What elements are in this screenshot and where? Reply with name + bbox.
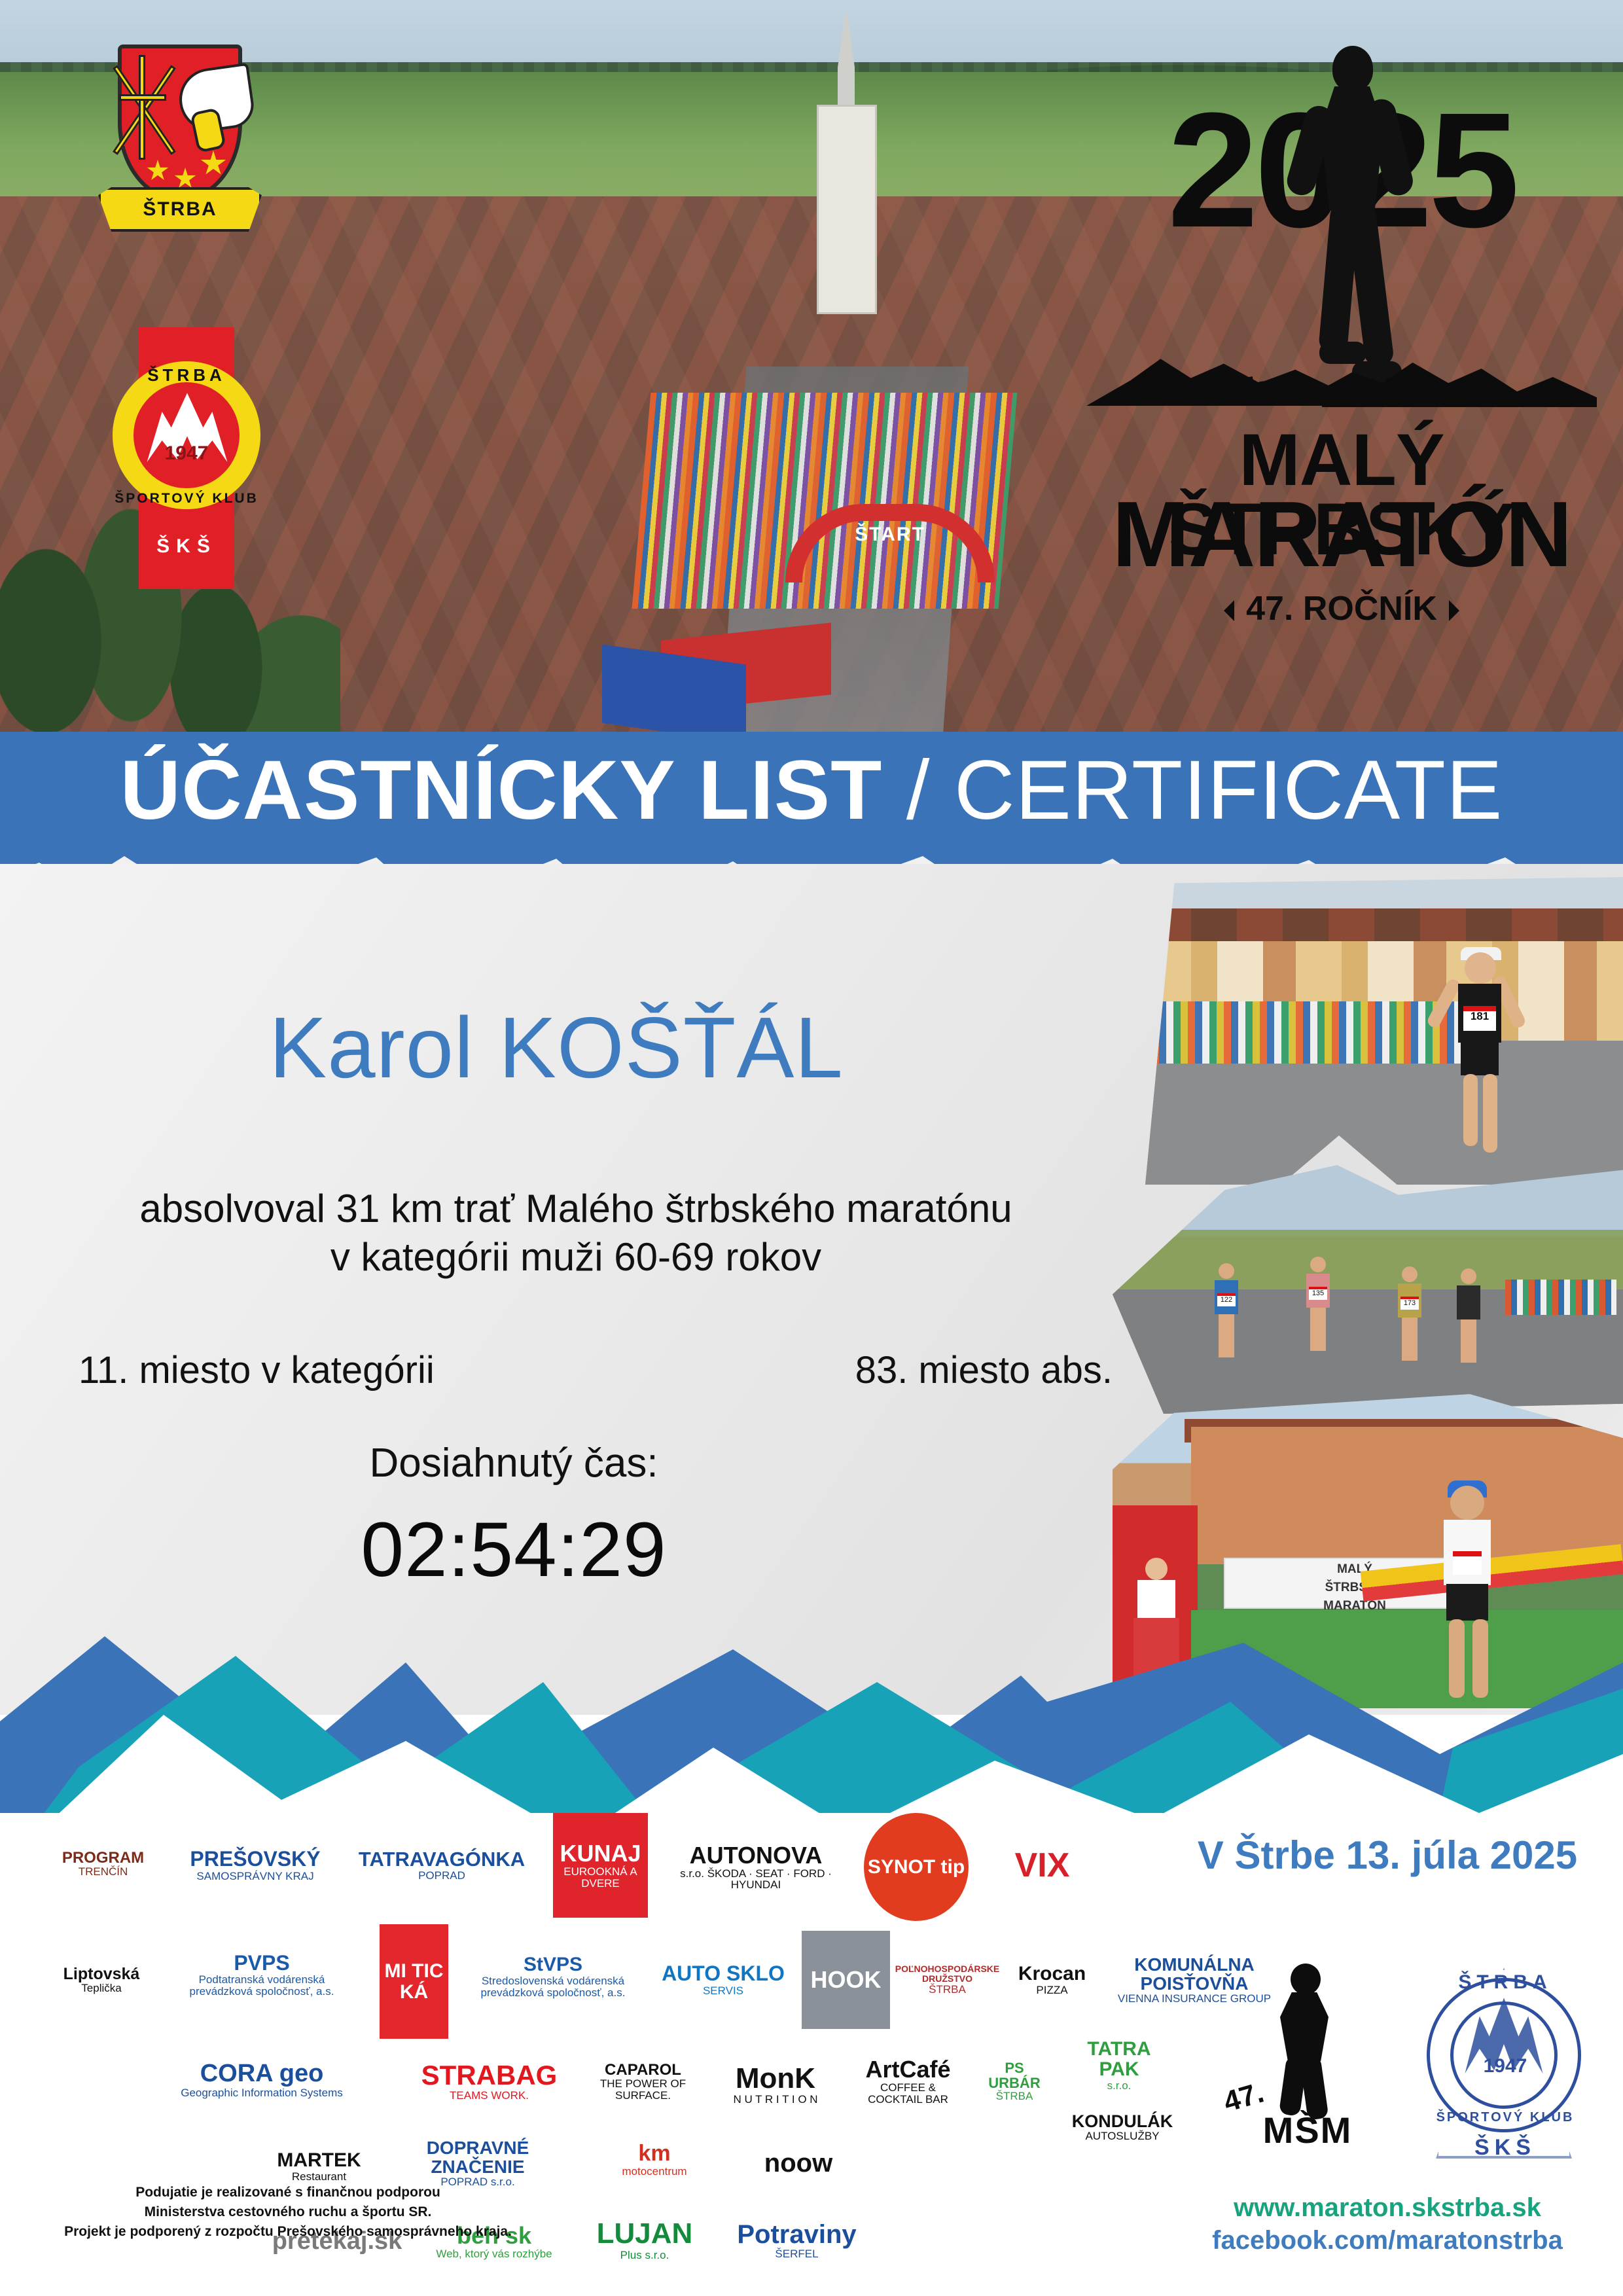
sponsor-name: VIX bbox=[1015, 1848, 1070, 1884]
crosier-staff bbox=[139, 55, 145, 160]
sponsor-logo-grid: PROGRAMTRENČÍNPREŠOVSKÝSAMOSPRÁVNY KRAJT… bbox=[46, 1806, 1126, 2199]
runner-torso bbox=[1280, 1992, 1329, 2061]
sponsor-name: PVPS bbox=[169, 1952, 354, 1975]
sponsor-logo-autosklo-servis: AUTO SKLOSERVIS bbox=[658, 1934, 789, 2026]
sponsor-name: DOPRAVNÉ ZNAČENIE bbox=[395, 2138, 560, 2177]
sponsor-name: PROGRAM bbox=[62, 1850, 144, 1866]
runner-head bbox=[1332, 46, 1373, 92]
coat-of-arms-ribbon-label: ŠTRBA bbox=[101, 190, 259, 229]
photo2-runner: 135 bbox=[1302, 1257, 1332, 1355]
sponsor-name: AUTONOVA bbox=[667, 1843, 845, 1868]
sponsor-logo-strabag: STRABAGTEAMS WORK. bbox=[412, 2039, 566, 2124]
runner-legs bbox=[1219, 1314, 1234, 1357]
msm-abbrev: MŠM bbox=[1242, 2109, 1373, 2151]
sponsor-tagline: Plus s.r.o. bbox=[597, 2250, 693, 2261]
description-line-2: v kategórii muži 60-69 rokov bbox=[0, 1233, 1152, 1282]
sponsor-tagline: s.r.o. ŠKODA · SEAT · FORD · HYUNDAI bbox=[667, 1868, 845, 1892]
sponsor-logo-tatrapak: TATRA PAKs.r.o. bbox=[1067, 2036, 1171, 2094]
finish-time-label: Dosiahnutý čas: bbox=[0, 1440, 1027, 1486]
runner-legs bbox=[1461, 1319, 1476, 1363]
sponsor-name: PREŠOVSKÝ bbox=[190, 1848, 320, 1871]
runner-head bbox=[1465, 952, 1496, 984]
sponsor-name: STRABAG bbox=[421, 2061, 558, 2090]
runner-head bbox=[1219, 1263, 1234, 1279]
sponsor-name: HOOK bbox=[811, 1967, 882, 1992]
sponsor-logo-stvps: StVPSStredoslovenská vodárenská prevádzk… bbox=[465, 1928, 641, 2026]
runner-legs bbox=[1310, 1308, 1326, 1351]
sponsor-logo-autonova: AUTONOVAs.r.o. ŠKODA · SEAT · FORD · HYU… bbox=[664, 1813, 847, 1921]
girl-blouse bbox=[1137, 1580, 1175, 1619]
msm-edition-logo: 47. MŠM bbox=[1224, 1957, 1387, 2153]
photo-finishing-woman: 181 bbox=[1145, 877, 1623, 1185]
sponsor-logo-noow: noow bbox=[749, 2127, 847, 2199]
sponsor-tagline: EUROOKNÁ A DVERE bbox=[556, 1866, 645, 1890]
church-nave bbox=[817, 105, 877, 314]
sponsor-tagline: AUTOSLUŽBY bbox=[1072, 2130, 1173, 2142]
runner-bib-number: 135 bbox=[1309, 1287, 1327, 1300]
runner-head bbox=[1291, 1964, 1321, 1995]
winner-head bbox=[1450, 1486, 1484, 1520]
sponsor-tagline: Teplička bbox=[63, 1982, 140, 1994]
stamp-bottom-text: ŠKŠ bbox=[1407, 2135, 1603, 2161]
sponsor-logo-ps-urbar-strba: PS URBÁRŠTRBA bbox=[975, 2032, 1054, 2130]
certificate-page: ŠTART ŠTRBA ŠTRBA 1947 bbox=[0, 0, 1623, 2296]
sponsor-name: LUJAN bbox=[597, 2219, 693, 2249]
description-line-1: absolvoval 31 km trať Malého štrbského m… bbox=[0, 1185, 1152, 1233]
sponsor-tagline: Restaurant bbox=[277, 2171, 361, 2183]
photo1-roofs bbox=[1145, 908, 1623, 941]
coat-of-arms-ribbon: ŠTRBA bbox=[98, 187, 262, 232]
sponsor-tagline: motocentrum bbox=[622, 2166, 687, 2178]
sks-strba-club-logo: ŠTRBA 1947 ŠPORTOVÝ KLUB ŠKŠ bbox=[105, 327, 268, 589]
sponsor-logo-krocan-pizza: KrocanPIZZA bbox=[1005, 1931, 1099, 2029]
sponsor-tagline: Stredoslovenská vodárenská prevádzková s… bbox=[467, 1975, 639, 1999]
sponsor-name: Liptovská bbox=[63, 1965, 140, 1982]
stamp-top-text: ŠTRBA bbox=[1407, 1971, 1603, 1994]
club-logo-top-text: ŠTRBA bbox=[105, 365, 268, 386]
sponsor-name: MARTEK bbox=[277, 2150, 361, 2171]
sponsor-logo-presovsky-kraj: PREŠOVSKÝSAMOSPRÁVNY KRAJ bbox=[173, 1820, 337, 1911]
sponsor-tagline: THE POWER OF SURFACE. bbox=[592, 2078, 694, 2102]
photo-collage: 181 122 135 173 bbox=[1113, 877, 1623, 1708]
page-title: ÚČASTNÍCKY LIST / CERTIFICATE bbox=[0, 749, 1623, 833]
sponsor-name: KONDULÁK bbox=[1072, 2112, 1173, 2130]
sponsor-name: TATRAVAGÓNKA bbox=[359, 1849, 525, 1871]
sponsor-name: SYNOT tip bbox=[868, 1857, 965, 1878]
certificate-description: absolvoval 31 km trať Malého štrbského m… bbox=[0, 1185, 1152, 1282]
event-title-line2: MARATÓN bbox=[1080, 491, 1603, 579]
winner-shorts bbox=[1446, 1584, 1488, 1621]
page-title-light: CERTIFICATE bbox=[954, 744, 1503, 837]
runner-bib-number: 181 bbox=[1463, 1010, 1496, 1023]
stamp-year: 1947 bbox=[1407, 2055, 1603, 2077]
sponsor-tagline: POPRAD bbox=[359, 1870, 525, 1882]
place-in-category: 11. miesto v kategórii bbox=[79, 1348, 435, 1392]
right-arrow-icon bbox=[1449, 600, 1470, 621]
sponsor-logo-potraviny-serfel: PotravinyŠERFEL bbox=[726, 2202, 867, 2278]
facebook-link[interactable]: facebook.com/maratonstrba bbox=[1158, 2224, 1616, 2257]
sponsor-logo-liptovska-teplicka: LiptovskáTeplička bbox=[52, 1924, 151, 2036]
sponsor-tagline: Web, ktorý vás rozhýbe bbox=[436, 2248, 552, 2260]
funding-note-line-3: Projekt je podporený z rozpočtu Prešovsk… bbox=[39, 2222, 537, 2242]
sponsor-logo-caparol: CAPAROLTHE POWER OF SURFACE. bbox=[589, 2036, 697, 2127]
runner-top bbox=[1457, 1285, 1480, 1319]
church-building bbox=[811, 7, 883, 314]
runner-bib-number: 122 bbox=[1217, 1293, 1236, 1306]
sponsor-logo-hook: HOOK bbox=[802, 1931, 890, 2029]
runner-torso bbox=[1321, 86, 1383, 211]
funding-note-line-2: Ministerstva cestovného ruchu a športu S… bbox=[39, 2202, 537, 2222]
sponsor-tagline: TEAMS WORK. bbox=[421, 2090, 558, 2102]
sponsor-logo-corageo: CORA geoGeographic Information Systems bbox=[170, 2036, 353, 2124]
church-spire bbox=[838, 7, 855, 111]
girl-head bbox=[1145, 1558, 1168, 1580]
sponsor-name: ArtCafé bbox=[857, 2057, 959, 2082]
placement-row: 11. miesto v kategórii 83. miesto abs. bbox=[79, 1348, 1113, 1392]
runner-head bbox=[1461, 1268, 1476, 1284]
sponsor-tagline: PIZZA bbox=[1018, 1984, 1086, 1996]
sponsor-name: MI TIC KÁ bbox=[382, 1961, 446, 2002]
stamp-mid-text: ŠPORTOVÝ KLUB bbox=[1407, 2110, 1603, 2125]
sponsor-logo-kondulak: KONDULÁKAUTOSLUŽBY bbox=[1067, 2094, 1178, 2160]
sponsor-logo-kunaj: KUNAJEUROOKNÁ A DVERE bbox=[553, 1813, 648, 1918]
sponsor-tagline: Geographic Information Systems bbox=[181, 2087, 343, 2099]
runner-leg-right bbox=[1483, 1074, 1497, 1153]
sponsor-name: km bbox=[622, 2142, 687, 2166]
hero-photo-banner: ŠTART ŠTRBA ŠTRBA 1947 bbox=[0, 0, 1623, 746]
photo1-spectators bbox=[1152, 1001, 1466, 1064]
sponsor-tagline: SAMOSPRÁVNY KRAJ bbox=[190, 1871, 320, 1882]
sponsor-name: Potraviny bbox=[737, 2221, 856, 2248]
sponsor-tagline: ŠERFEL bbox=[737, 2248, 856, 2260]
runner-arm-left bbox=[1425, 977, 1461, 1030]
sponsor-logo-monk-nutrition: MonKN U T R I T I O N bbox=[717, 2042, 834, 2127]
runner-shorts bbox=[1461, 1041, 1499, 1075]
sks-stamp-logo: ŠTRBA 1947 ŠPORTOVÝ KLUB ŠKŠ bbox=[1407, 1950, 1603, 2160]
sponsor-name: Krocan bbox=[1018, 1964, 1086, 1984]
sponsor-logo-km-motocentrum: kmmotocentrum bbox=[596, 2121, 713, 2199]
runner-head bbox=[1310, 1257, 1326, 1272]
finish-time-value: 02:54:29 bbox=[0, 1505, 1027, 1594]
photo2-runner: 122 bbox=[1211, 1263, 1241, 1361]
club-logo-bottom-text: ŠPORTOVÝ KLUB bbox=[105, 491, 268, 507]
certificate-title-band: ÚČASTNÍCKY LIST / CERTIFICATE bbox=[0, 732, 1623, 869]
sponsor-name: PS URBÁR bbox=[978, 2060, 1051, 2090]
runner-bib-number: 173 bbox=[1400, 1297, 1419, 1310]
funding-note-line-1: Podujatie je realizované s finančnou pod… bbox=[39, 2183, 537, 2202]
photo1-runner: 181 bbox=[1427, 946, 1531, 1175]
sponsor-logo-vix: VIX bbox=[988, 1813, 1096, 1918]
sponsor-tagline: s.r.o. bbox=[1069, 2080, 1169, 2092]
sponsor-logo-pd-strba: POĽNOHOSPODÁRSKE DRUŽSTVOŠTRBA bbox=[900, 1931, 995, 2029]
sponsor-tagline: COFFEE & COCKTAIL BAR bbox=[857, 2082, 959, 2106]
sponsor-name: POĽNOHOSPODÁRSKE DRUŽSTVO bbox=[895, 1964, 999, 1983]
sponsor-logo-lujan-plus: LUJANPlus s.r.o. bbox=[582, 2202, 707, 2278]
sponsor-logo-synottip: SYNOT tip bbox=[864, 1813, 969, 1921]
cross-bar bbox=[119, 94, 166, 101]
left-arrow-icon bbox=[1213, 600, 1234, 621]
sponsor-name: noow bbox=[764, 2149, 832, 2177]
sponsor-tagline: SERVIS bbox=[662, 1985, 785, 1997]
sponsor-name: MonK bbox=[733, 2064, 817, 2094]
sponsor-tagline: N U T R I T I O N bbox=[733, 2094, 817, 2106]
photo2-runner bbox=[1453, 1268, 1483, 1367]
runner-silhouette-icon bbox=[1263, 1964, 1342, 2108]
mountain-outline-icon bbox=[1086, 327, 1597, 412]
page-title-separator: / bbox=[882, 744, 954, 837]
sponsor-tagline: TRENČÍN bbox=[62, 1866, 144, 1878]
photo-runners-on-hill: 122 135 173 bbox=[1113, 1165, 1623, 1414]
photo3-building bbox=[1191, 1427, 1623, 1564]
runner-head bbox=[1402, 1266, 1418, 1282]
sponsor-logo-miticka: MI TIC KÁ bbox=[380, 1924, 448, 2039]
sponsor-logo-tatravagonka-poprad: TATRAVAGÓNKAPOPRAD bbox=[353, 1820, 530, 1911]
sponsor-name: CORA geo bbox=[181, 2061, 343, 2087]
winner-bib bbox=[1453, 1551, 1482, 1575]
club-logo-abbrev: ŠKŠ bbox=[105, 535, 268, 558]
sponsor-logo-pvps: PVPSPodtatranská vodárenská prevádzková … bbox=[167, 1928, 357, 2022]
event-edition-row: 47. ROČNÍK bbox=[1080, 589, 1603, 628]
sponsor-name: TATRA PAK bbox=[1069, 2039, 1169, 2080]
strba-coat-of-arms: ŠTRBA bbox=[98, 31, 262, 247]
website-link[interactable]: www.maraton.skstrba.sk bbox=[1158, 2191, 1616, 2224]
runner-leg-left bbox=[1463, 1074, 1478, 1146]
event-title-block: 2025 31 km 10 km MALÝ ŠTRBSKÝ MARATÓN 47… bbox=[1080, 39, 1603, 589]
contact-links: www.maraton.skstrba.sk facebook.com/mara… bbox=[1158, 2191, 1616, 2257]
page-title-bold: ÚČASTNÍCKY LIST bbox=[120, 744, 883, 837]
event-edition-label: 47. ROČNÍK bbox=[1246, 590, 1437, 628]
sponsor-logo-artcafe: ArtCaféCOFFEE & COCKTAIL BAR bbox=[854, 2036, 962, 2127]
place-absolute: 83. miesto abs. bbox=[855, 1348, 1113, 1392]
participant-name: Karol KOŠŤÁL bbox=[0, 998, 1113, 1097]
issue-date: V Štrbe 13. júla 2025 bbox=[1171, 1833, 1603, 1878]
sponsor-logo-program-trencin: PROGRAMTRENČÍN bbox=[46, 1806, 160, 1921]
funding-note: Podujatie je realizované s finančnou pod… bbox=[39, 2183, 537, 2242]
sponsor-tagline: ŠTRBA bbox=[978, 2090, 1051, 2102]
start-label: ŠTART bbox=[815, 524, 965, 546]
sponsor-name: KUNAJ bbox=[556, 1841, 645, 1866]
photo2-runner: 173 bbox=[1394, 1266, 1424, 1365]
sponsor-name: CAPAROL bbox=[592, 2062, 694, 2078]
sponsor-name: AUTO SKLO bbox=[662, 1963, 785, 1985]
runner-legs bbox=[1402, 1318, 1418, 1361]
photo2-runner-pack bbox=[1505, 1280, 1616, 1315]
club-logo-year: 1947 bbox=[105, 442, 268, 465]
sponsor-name: StVPS bbox=[467, 1954, 639, 1975]
sponsor-tagline: Podtatranská vodárenská prevádzková spol… bbox=[169, 1974, 354, 1998]
sponsor-tagline: ŠTRBA bbox=[895, 1984, 999, 1996]
